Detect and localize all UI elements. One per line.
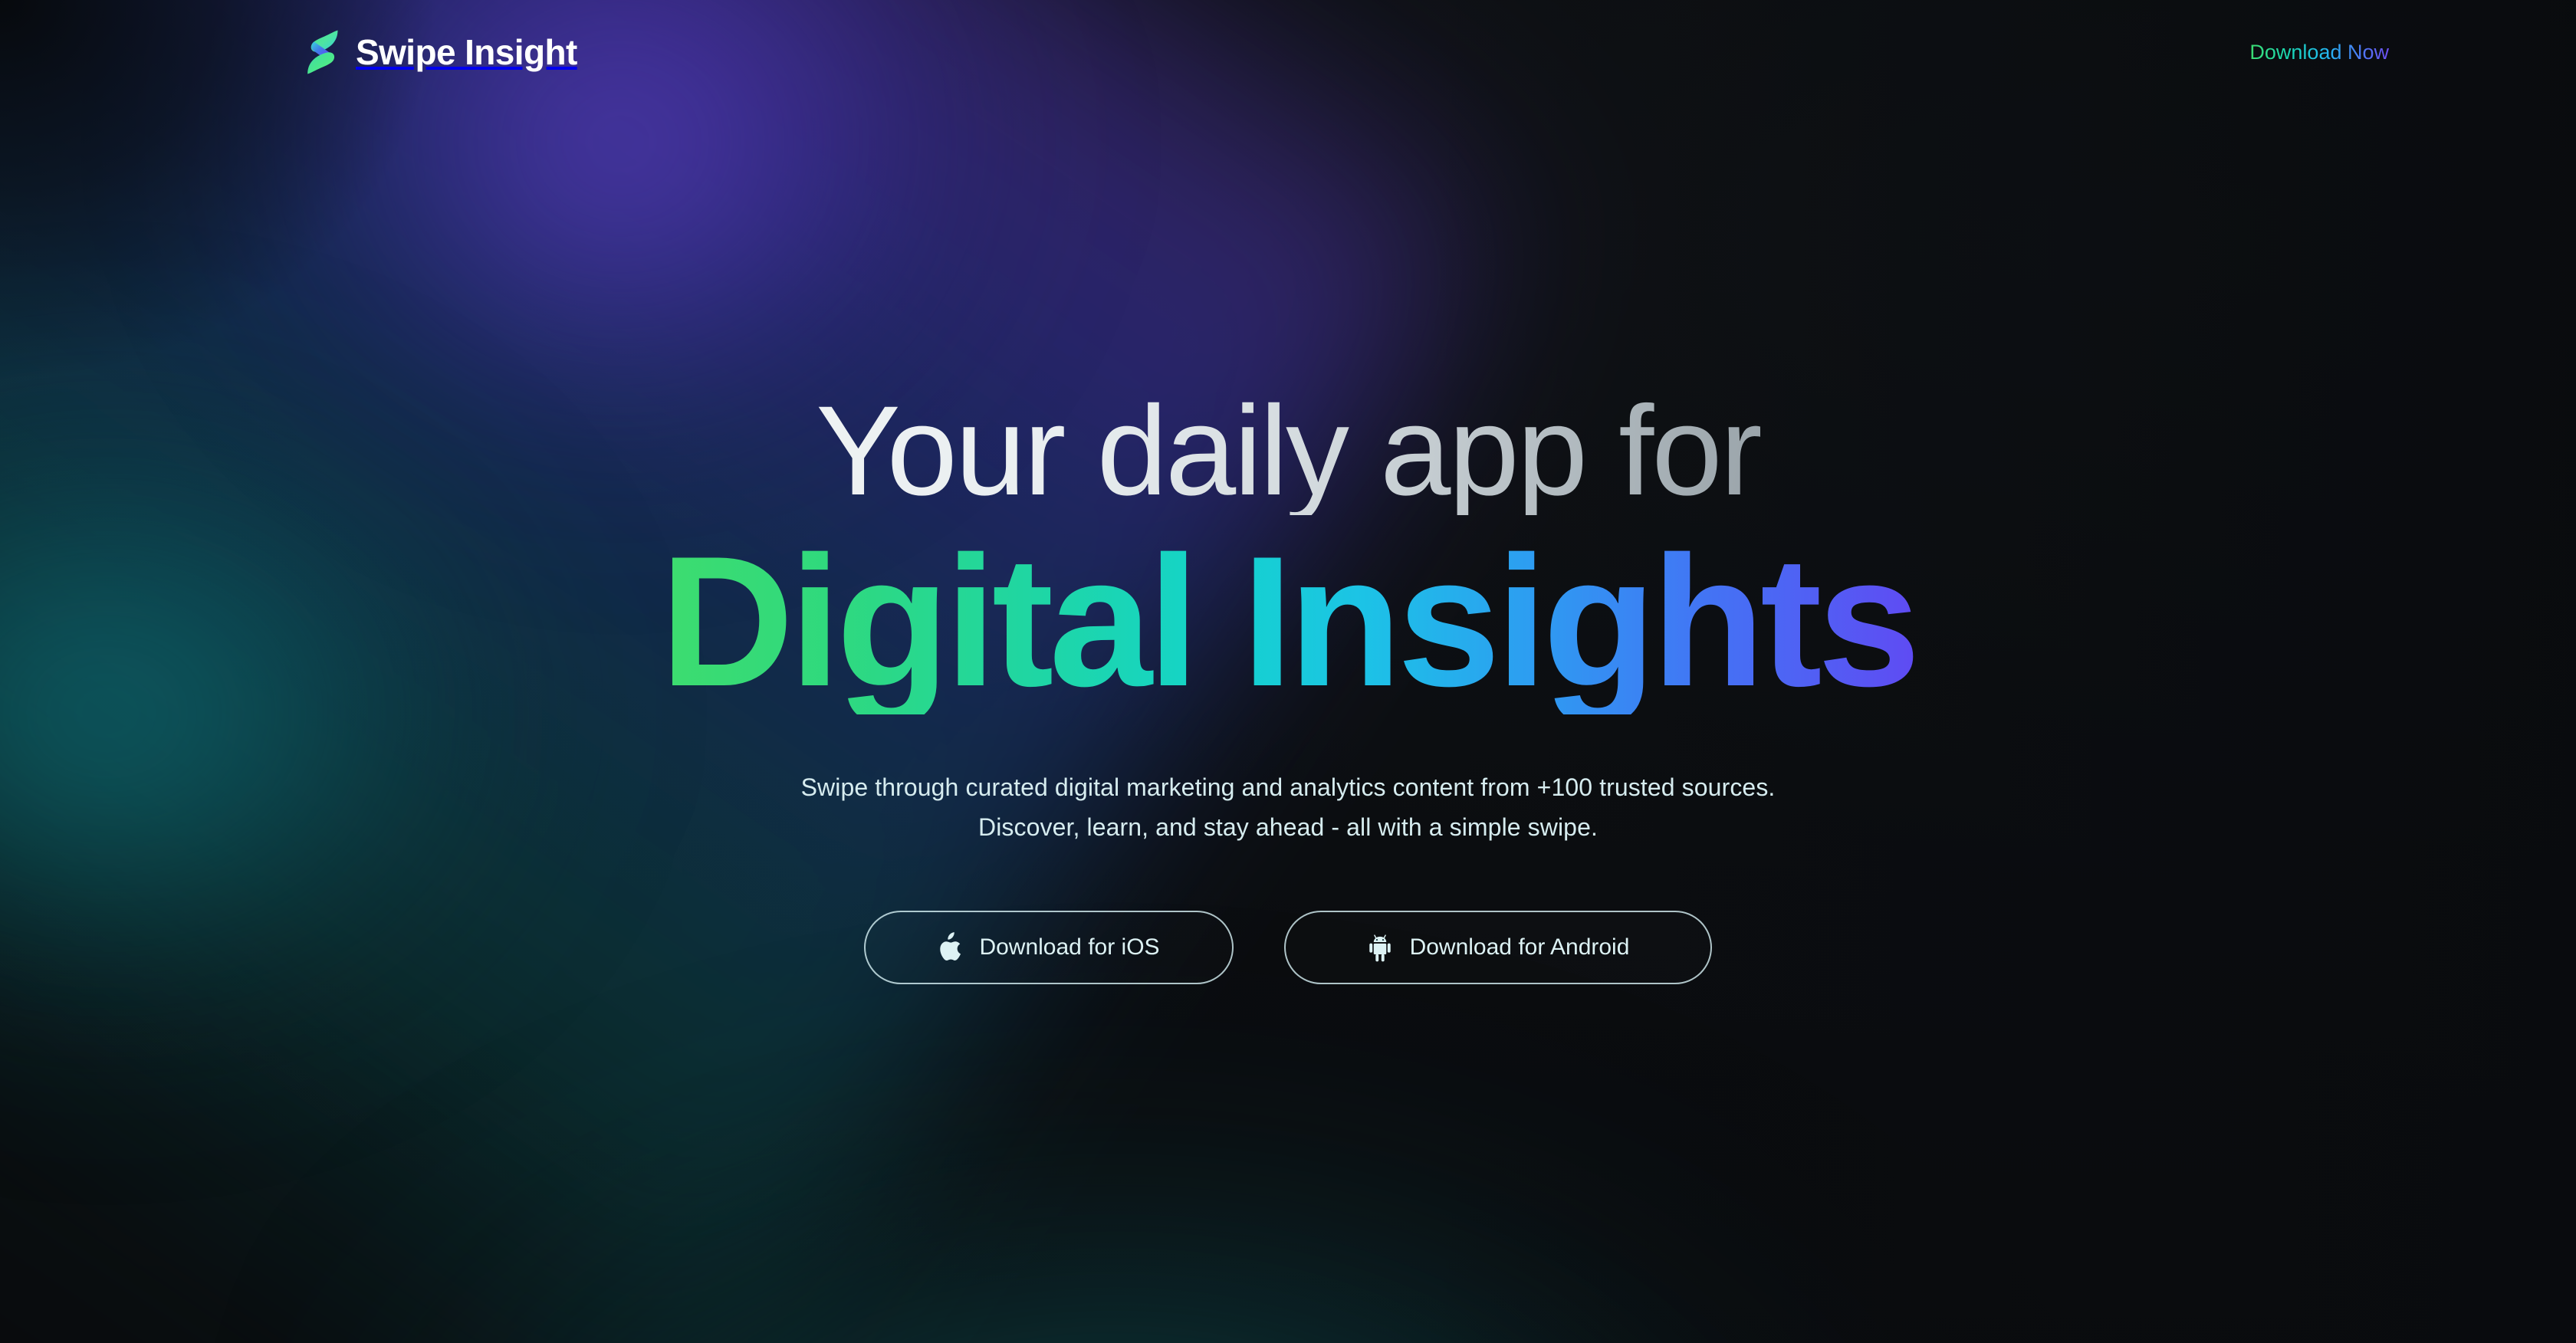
page-content: Swipe Insight Download Now Your daily ap… (0, 0, 2576, 1343)
hero-section: Your daily app for Digital Insights Swip… (0, 0, 2576, 984)
hero-headline-line-2: Digital Insights (660, 529, 1916, 714)
hero-download-buttons: Download for iOS (864, 911, 1712, 984)
download-android-button[interactable]: Download for Android (1284, 911, 1712, 984)
hero-subtitle: Swipe through curated digital marketing … (751, 768, 1825, 848)
download-ios-label: Download for iOS (979, 936, 1159, 959)
hero-headline-line-1: Your daily app for (816, 388, 1760, 515)
page-root: Swipe Insight Download Now Your daily ap… (0, 0, 2576, 1343)
apple-icon (938, 932, 962, 962)
download-android-label: Download for Android (1410, 936, 1630, 959)
android-icon (1367, 933, 1393, 962)
download-ios-button[interactable]: Download for iOS (864, 911, 1234, 984)
